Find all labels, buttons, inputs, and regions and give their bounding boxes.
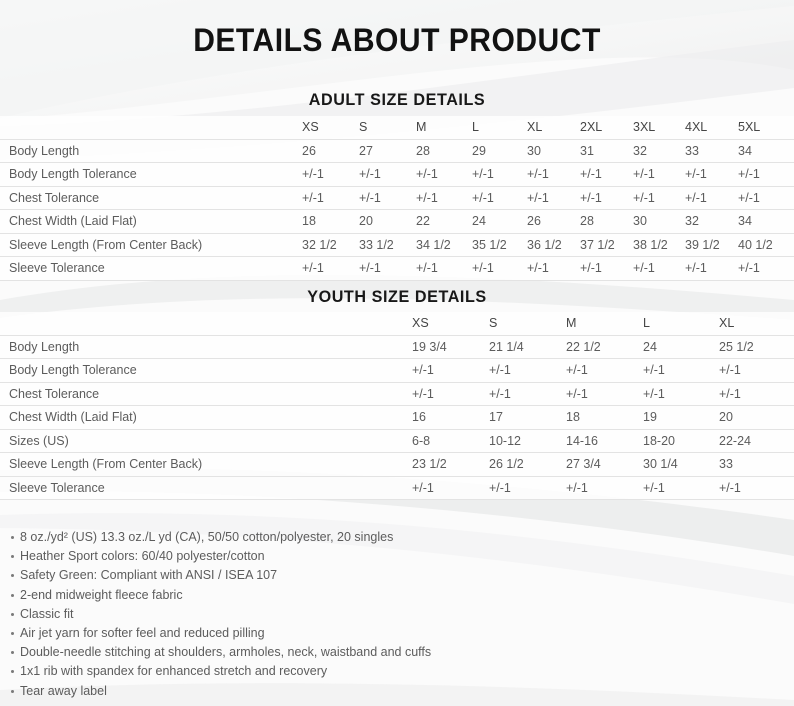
youth-table-row: Sizes (US)6-810-1214-1618-2022-24 bbox=[0, 429, 794, 453]
adult-cell: +/-1 bbox=[300, 163, 357, 187]
youth-table-row: Body Length Tolerance+/-1+/-1+/-1+/-1+/-… bbox=[0, 359, 794, 383]
adult-cell: 18 bbox=[300, 210, 357, 234]
youth-cell: 19 3/4 bbox=[410, 335, 487, 359]
youth-cell: 23 1/2 bbox=[410, 453, 487, 477]
adult-cell: +/-1 bbox=[683, 186, 736, 210]
adult-cell: 29 bbox=[470, 139, 525, 163]
adult-cell: +/-1 bbox=[300, 257, 357, 281]
adult-cell: 32 bbox=[631, 139, 683, 163]
adult-size-table: XSSMLXL2XL3XL4XL5XL Body Length262728293… bbox=[0, 116, 794, 281]
youth-table-row: Chest Tolerance+/-1+/-1+/-1+/-1+/-1 bbox=[0, 382, 794, 406]
youth-cell: +/-1 bbox=[410, 359, 487, 383]
youth-cell: +/-1 bbox=[564, 476, 641, 500]
youth-cell: 22 1/2 bbox=[564, 335, 641, 359]
youth-column-header-m: M bbox=[564, 312, 641, 335]
adult-cell: +/-1 bbox=[631, 186, 683, 210]
youth-cell: +/-1 bbox=[487, 359, 564, 383]
youth-cell: +/-1 bbox=[717, 476, 794, 500]
adult-table-row: Sleeve Tolerance+/-1+/-1+/-1+/-1+/-1+/-1… bbox=[0, 257, 794, 281]
adult-cell: +/-1 bbox=[525, 163, 578, 187]
youth-cell: 22-24 bbox=[717, 429, 794, 453]
youth-cell: +/-1 bbox=[410, 382, 487, 406]
adult-column-header-s: S bbox=[357, 116, 414, 139]
adult-header-row: XSSMLXL2XL3XL4XL5XL bbox=[0, 116, 794, 139]
youth-column-header-l: L bbox=[641, 312, 717, 335]
youth-cell: 30 1/4 bbox=[641, 453, 717, 477]
adult-cell: +/-1 bbox=[736, 257, 794, 281]
adult-cell: +/-1 bbox=[683, 257, 736, 281]
feature-list-item: Safety Green: Compliant with ANSI / ISEA… bbox=[0, 566, 431, 585]
adult-cell: +/-1 bbox=[683, 163, 736, 187]
feature-list-item: Tear away label bbox=[0, 682, 431, 701]
youth-cell: +/-1 bbox=[641, 476, 717, 500]
adult-table-row: Chest Width (Laid Flat)18202224262830323… bbox=[0, 210, 794, 234]
adult-cell: +/-1 bbox=[631, 257, 683, 281]
youth-header-row: XSSMLXL bbox=[0, 312, 794, 335]
youth-row-label: Body Length Tolerance bbox=[0, 359, 410, 383]
youth-cell: 25 1/2 bbox=[717, 335, 794, 359]
feature-list-item: Heather Sport colors: 60/40 polyester/co… bbox=[0, 547, 431, 566]
youth-cell: 26 1/2 bbox=[487, 453, 564, 477]
adult-cell: 34 bbox=[736, 139, 794, 163]
adult-section-title: ADULT SIZE DETAILS bbox=[20, 90, 774, 110]
adult-cell: +/-1 bbox=[578, 257, 631, 281]
adult-cell: +/-1 bbox=[414, 257, 470, 281]
youth-cell: +/-1 bbox=[487, 382, 564, 406]
youth-cell: 33 bbox=[717, 453, 794, 477]
youth-row-label: Body Length bbox=[0, 335, 410, 359]
adult-cell: +/-1 bbox=[357, 257, 414, 281]
adult-cell: +/-1 bbox=[736, 163, 794, 187]
youth-cell: 14-16 bbox=[564, 429, 641, 453]
feature-list-item: 1x1 rib with spandex for enhanced stretc… bbox=[0, 662, 431, 681]
feature-list-item: Classic fit bbox=[0, 605, 431, 624]
adult-row-label: Chest Width (Laid Flat) bbox=[0, 210, 300, 234]
youth-row-label: Sizes (US) bbox=[0, 429, 410, 453]
youth-cell: 10-12 bbox=[487, 429, 564, 453]
youth-cell: 20 bbox=[717, 406, 794, 430]
adult-cell: 30 bbox=[525, 139, 578, 163]
youth-row-label: Sleeve Tolerance bbox=[0, 476, 410, 500]
adult-column-header-l: L bbox=[470, 116, 525, 139]
adult-cell: 28 bbox=[414, 139, 470, 163]
adult-row-label: Sleeve Length (From Center Back) bbox=[0, 233, 300, 257]
adult-cell: +/-1 bbox=[578, 163, 631, 187]
adult-cell: +/-1 bbox=[414, 186, 470, 210]
adult-cell: 36 1/2 bbox=[525, 233, 578, 257]
adult-cell: +/-1 bbox=[736, 186, 794, 210]
adult-cell: +/-1 bbox=[414, 163, 470, 187]
youth-cell: 19 bbox=[641, 406, 717, 430]
adult-row-label: Body Length Tolerance bbox=[0, 163, 300, 187]
adult-column-header-xs: XS bbox=[300, 116, 357, 139]
youth-cell: +/-1 bbox=[717, 359, 794, 383]
adult-cell: 31 bbox=[578, 139, 631, 163]
adult-cell: 38 1/2 bbox=[631, 233, 683, 257]
youth-cell: +/-1 bbox=[717, 382, 794, 406]
adult-cell: 28 bbox=[578, 210, 631, 234]
feature-list-item: Double-needle stitching at shoulders, ar… bbox=[0, 643, 431, 662]
adult-table-row: Sleeve Length (From Center Back)32 1/233… bbox=[0, 233, 794, 257]
product-details-page: DETAILS ABOUT PRODUCT ADULT SIZE DETAILS… bbox=[0, 0, 794, 706]
adult-table-body: Body Length262728293031323334Body Length… bbox=[0, 139, 794, 280]
youth-column-header-xs: XS bbox=[410, 312, 487, 335]
youth-cell: 18 bbox=[564, 406, 641, 430]
youth-cell: +/-1 bbox=[641, 359, 717, 383]
adult-cell: +/-1 bbox=[578, 186, 631, 210]
adult-cell: 26 bbox=[525, 210, 578, 234]
page-title: DETAILS ABOUT PRODUCT bbox=[24, 22, 770, 59]
youth-table-row: Chest Width (Laid Flat)1617181920 bbox=[0, 406, 794, 430]
youth-column-header-s: S bbox=[487, 312, 564, 335]
youth-column-header-xl: XL bbox=[717, 312, 794, 335]
youth-table-row: Sleeve Tolerance+/-1+/-1+/-1+/-1+/-1 bbox=[0, 476, 794, 500]
youth-cell: 16 bbox=[410, 406, 487, 430]
adult-cell: 32 1/2 bbox=[300, 233, 357, 257]
adult-corner-cell bbox=[0, 116, 300, 139]
youth-corner-cell bbox=[0, 312, 410, 335]
adult-row-label: Chest Tolerance bbox=[0, 186, 300, 210]
youth-cell: 27 3/4 bbox=[564, 453, 641, 477]
adult-cell: 22 bbox=[414, 210, 470, 234]
feature-list-item: Air jet yarn for softer feel and reduced… bbox=[0, 624, 431, 643]
youth-size-table: XSSMLXL Body Length19 3/421 1/422 1/2242… bbox=[0, 312, 794, 500]
adult-cell: +/-1 bbox=[525, 257, 578, 281]
adult-cell: 26 bbox=[300, 139, 357, 163]
adult-cell: +/-1 bbox=[357, 186, 414, 210]
adult-table-row: Chest Tolerance+/-1+/-1+/-1+/-1+/-1+/-1+… bbox=[0, 186, 794, 210]
adult-cell: 30 bbox=[631, 210, 683, 234]
youth-table-body: Body Length19 3/421 1/422 1/22425 1/2Bod… bbox=[0, 335, 794, 500]
youth-cell: +/-1 bbox=[641, 382, 717, 406]
adult-column-header-4xl: 4XL bbox=[683, 116, 736, 139]
adult-cell: +/-1 bbox=[470, 163, 525, 187]
adult-cell: 27 bbox=[357, 139, 414, 163]
youth-cell: 17 bbox=[487, 406, 564, 430]
adult-cell: 37 1/2 bbox=[578, 233, 631, 257]
adult-cell: 40 1/2 bbox=[736, 233, 794, 257]
product-feature-list: 8 oz./yd² (US) 13.3 oz./L yd (CA), 50/50… bbox=[0, 528, 431, 701]
adult-cell: 34 1/2 bbox=[414, 233, 470, 257]
adult-cell: +/-1 bbox=[470, 186, 525, 210]
adult-column-header-2xl: 2XL bbox=[578, 116, 631, 139]
youth-table-row: Sleeve Length (From Center Back)23 1/226… bbox=[0, 453, 794, 477]
adult-column-header-3xl: 3XL bbox=[631, 116, 683, 139]
youth-row-label: Sleeve Length (From Center Back) bbox=[0, 453, 410, 477]
adult-column-header-xl: XL bbox=[525, 116, 578, 139]
adult-cell: 33 1/2 bbox=[357, 233, 414, 257]
adult-cell: +/-1 bbox=[631, 163, 683, 187]
adult-cell: 39 1/2 bbox=[683, 233, 736, 257]
adult-cell: +/-1 bbox=[470, 257, 525, 281]
youth-section-title: YOUTH SIZE DETAILS bbox=[20, 287, 774, 307]
adult-cell: 34 bbox=[736, 210, 794, 234]
adult-table-row: Body Length262728293031323334 bbox=[0, 139, 794, 163]
adult-row-label: Body Length bbox=[0, 139, 300, 163]
adult-column-header-5xl: 5XL bbox=[736, 116, 794, 139]
youth-row-label: Chest Tolerance bbox=[0, 382, 410, 406]
adult-cell: 33 bbox=[683, 139, 736, 163]
adult-table-row: Body Length Tolerance+/-1+/-1+/-1+/-1+/-… bbox=[0, 163, 794, 187]
adult-cell: +/-1 bbox=[300, 186, 357, 210]
youth-cell: +/-1 bbox=[487, 476, 564, 500]
youth-cell: 18-20 bbox=[641, 429, 717, 453]
youth-cell: 21 1/4 bbox=[487, 335, 564, 359]
youth-cell: 6-8 bbox=[410, 429, 487, 453]
adult-cell: 24 bbox=[470, 210, 525, 234]
youth-cell: 24 bbox=[641, 335, 717, 359]
adult-row-label: Sleeve Tolerance bbox=[0, 257, 300, 281]
youth-cell: +/-1 bbox=[564, 382, 641, 406]
youth-table-row: Body Length19 3/421 1/422 1/22425 1/2 bbox=[0, 335, 794, 359]
adult-cell: 32 bbox=[683, 210, 736, 234]
adult-cell: +/-1 bbox=[357, 163, 414, 187]
adult-cell: +/-1 bbox=[525, 186, 578, 210]
youth-cell: +/-1 bbox=[564, 359, 641, 383]
adult-cell: 35 1/2 bbox=[470, 233, 525, 257]
youth-cell: +/-1 bbox=[410, 476, 487, 500]
feature-list-item: 2-end midweight fleece fabric bbox=[0, 586, 431, 605]
adult-cell: 20 bbox=[357, 210, 414, 234]
youth-row-label: Chest Width (Laid Flat) bbox=[0, 406, 410, 430]
feature-list-item: 8 oz./yd² (US) 13.3 oz./L yd (CA), 50/50… bbox=[0, 528, 431, 547]
adult-column-header-m: M bbox=[414, 116, 470, 139]
